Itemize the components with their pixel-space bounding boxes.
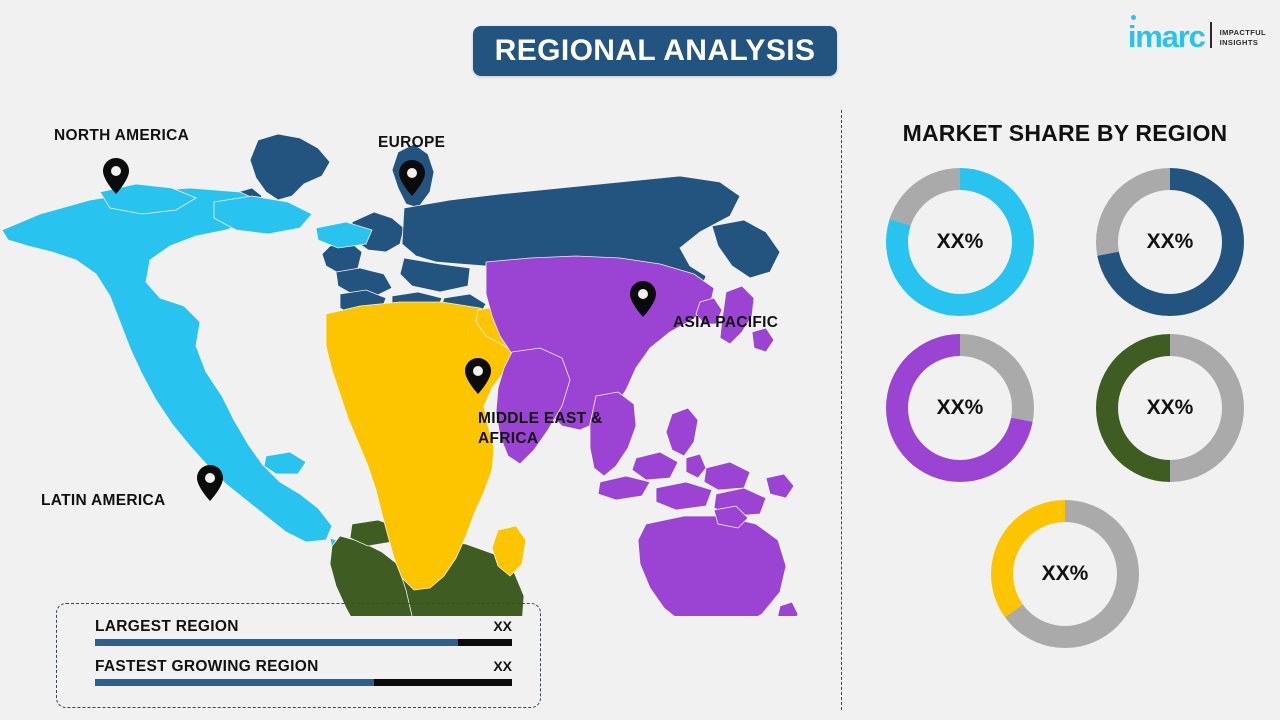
legend-progress-fill <box>95 679 374 686</box>
legend-label: LARGEST REGION <box>95 618 239 636</box>
donut-value-label: XX% <box>1096 168 1244 316</box>
legend-progress-track <box>95 679 512 686</box>
legend-row-header: FASTEST GROWING REGION XX <box>95 658 512 676</box>
legend-progress-fill <box>95 639 458 646</box>
legend-row-fastest-growing-region: FASTEST GROWING REGION XX <box>95 658 512 686</box>
section-divider <box>841 110 842 710</box>
donut-chart-3[interactable]: XX% <box>886 334 1034 482</box>
donut-chart-5[interactable]: XX% <box>991 500 1139 648</box>
donut-value-label: XX% <box>1096 334 1244 482</box>
donut-value-label: XX% <box>886 334 1034 482</box>
map-label-europe: EUROPE <box>378 133 445 153</box>
market-share-title: MARKET SHARE BY REGION <box>855 120 1275 147</box>
donut-value-label: XX% <box>886 168 1034 316</box>
infographic-canvas: REGIONAL ANALYSIS imarc IMPACTFUL INSIGH… <box>0 0 1280 720</box>
donut-value-label: XX% <box>991 500 1139 648</box>
location-pin-icon-europe[interactable] <box>399 160 425 196</box>
logo-divider <box>1210 22 1212 48</box>
legend-value: XX <box>493 658 512 674</box>
map-label-asia-pacific: ASIA PACIFIC <box>673 313 778 333</box>
page-title: REGIONAL ANALYSIS <box>495 34 816 68</box>
logo-tagline-line2: INSIGHTS <box>1220 38 1266 48</box>
logo-wordmark: imarc <box>1128 24 1205 50</box>
donut-chart-1[interactable]: XX% <box>886 168 1034 316</box>
legend-row-largest-region: LARGEST REGION XX <box>95 618 512 646</box>
imarc-logo: imarc IMPACTFUL INSIGHTS <box>1128 22 1266 50</box>
location-pin-icon-asia-pacific[interactable] <box>630 281 656 317</box>
legend-progress-track <box>95 639 512 646</box>
map-label-middle-east-africa: MIDDLE EAST & AFRICA <box>478 409 602 449</box>
map-label-latin-america: LATIN AMERICA <box>41 491 165 511</box>
donut-chart-4[interactable]: XX% <box>1096 334 1244 482</box>
location-pin-icon-middle-east-africa[interactable] <box>465 358 491 394</box>
legend-label: FASTEST GROWING REGION <box>95 658 319 676</box>
legend-box: LARGEST REGION XX FASTEST GROWING REGION… <box>56 603 541 708</box>
logo-wordmark-text: imarc <box>1128 19 1205 54</box>
logo-tagline: IMPACTFUL INSIGHTS <box>1220 28 1266 50</box>
donut-chart-2[interactable]: XX% <box>1096 168 1244 316</box>
logo-dot-icon <box>1131 15 1136 20</box>
location-pin-icon-latin-america[interactable] <box>197 465 223 501</box>
logo-tagline-line1: IMPACTFUL <box>1220 28 1266 38</box>
donut-chart-grid: XX%XX%XX%XX%XX% <box>855 168 1275 648</box>
legend-value: XX <box>493 618 512 634</box>
market-share-panel: MARKET SHARE BY REGION XX%XX%XX%XX%XX% <box>855 120 1275 710</box>
location-pin-icon-north-america[interactable] <box>103 158 129 194</box>
page-title-banner: REGIONAL ANALYSIS <box>473 26 837 76</box>
map-label-north-america: NORTH AMERICA <box>54 126 189 146</box>
legend-row-header: LARGEST REGION XX <box>95 618 512 636</box>
